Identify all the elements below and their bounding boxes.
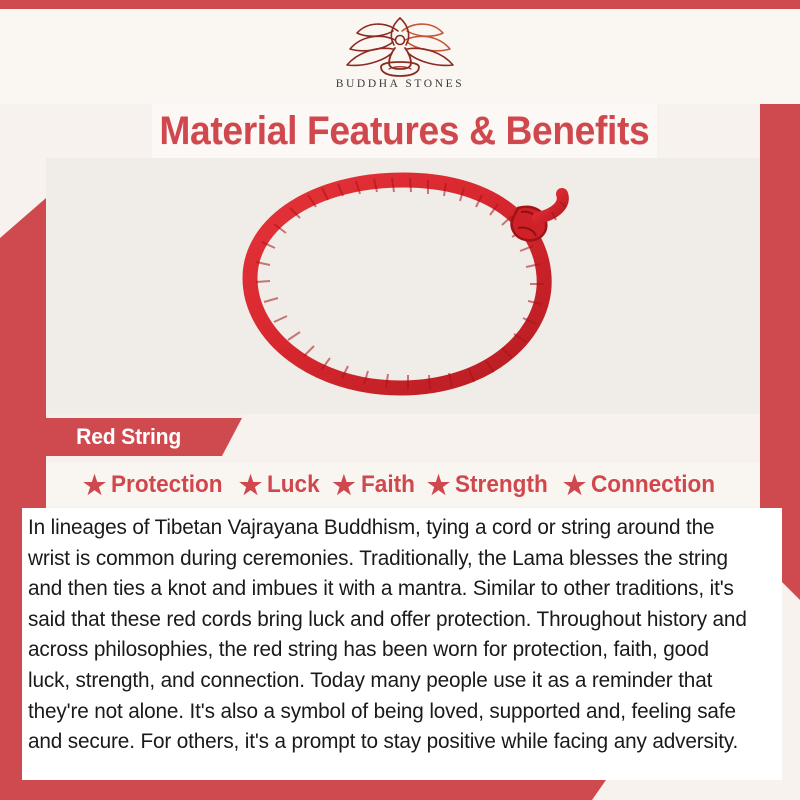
top-red-strip <box>0 0 800 9</box>
infographic-page: BUDDHA STONES Material Features & Benefi… <box>0 0 800 800</box>
star-icon: ★ <box>332 472 355 498</box>
title-band: Material Features & Benefits <box>152 104 657 158</box>
benefit-item-protection: ★ Protection <box>83 471 230 499</box>
star-icon: ★ <box>563 472 586 498</box>
brand-wordmark: BUDDHA STONES <box>336 78 464 90</box>
brand-header: BUDDHA STONES <box>0 9 800 104</box>
red-string-bracelet-image <box>188 164 618 408</box>
benefit-item-faith: ★ Faith <box>332 471 418 499</box>
benefit-item-connection: ★ Connection <box>563 471 723 499</box>
benefit-label: Faith <box>361 471 415 499</box>
benefit-item-luck: ★ Luck <box>239 471 323 499</box>
benefits-row: ★ Protection ★ Luck ★ Faith ★ Strength ★… <box>46 463 760 507</box>
page-title: Material Features & Benefits <box>160 109 650 154</box>
star-icon: ★ <box>83 472 106 498</box>
star-icon: ★ <box>427 472 450 498</box>
section-title: Red String <box>76 424 181 450</box>
product-image-area <box>46 158 760 414</box>
benefit-item-strength: ★ Strength <box>427 471 554 499</box>
ribbon-top-gap <box>46 414 242 418</box>
section-ribbon-red-string: Red String <box>46 418 242 456</box>
benefit-label: Strength <box>455 471 548 499</box>
lotus-meditation-icon <box>339 11 461 77</box>
benefit-label: Protection <box>111 471 223 499</box>
description-text: In lineages of Tibetan Vajrayana Buddhis… <box>28 512 750 757</box>
description-panel: In lineages of Tibetan Vajrayana Buddhis… <box>22 508 782 780</box>
star-icon: ★ <box>239 472 262 498</box>
benefit-label: Luck <box>267 471 320 499</box>
benefit-label: Connection <box>591 471 715 499</box>
